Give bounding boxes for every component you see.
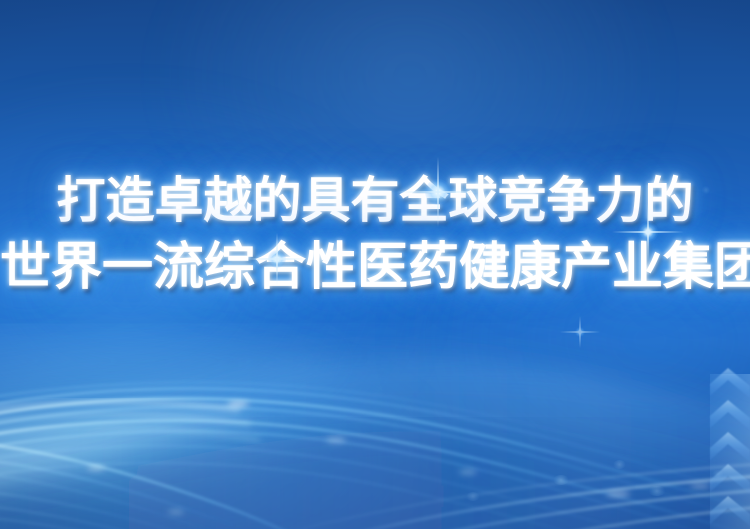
banner-root: 打造卓越的具有全球竞争力的 世界一流综合性医药健康产业集团 [0, 0, 750, 529]
headline-line-1: 打造卓越的具有全球竞争力的 [0, 176, 750, 225]
chevron-arrows-icon [702, 366, 750, 529]
headline-line-2: 世界一流综合性医药健康产业集团 [0, 242, 750, 293]
headline: 打造卓越的具有全球竞争力的 世界一流综合性医药健康产业集团 [0, 176, 750, 293]
